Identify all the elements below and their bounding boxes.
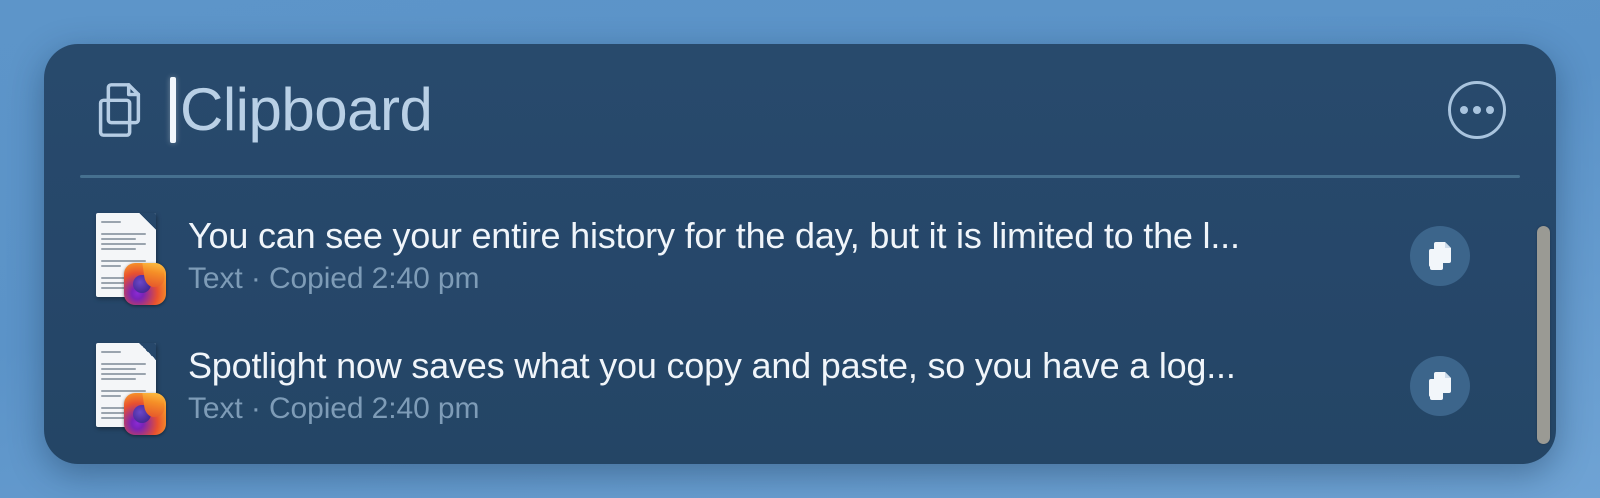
list-item-text: Spotlight now saves what you copy and pa…	[188, 345, 1390, 426]
list-item[interactable]: You can see your entire history for the …	[44, 191, 1556, 321]
list-item-text: You can see your entire history for the …	[188, 215, 1390, 296]
vertical-scrollbar[interactable]	[1537, 184, 1550, 442]
clipboard-panel: Clipboard	[44, 44, 1556, 464]
copy-icon[interactable]	[1410, 356, 1470, 416]
scrollbar-thumb[interactable]	[1537, 226, 1550, 444]
list-item-title: You can see your entire history for the …	[188, 215, 1390, 257]
firefox-icon	[124, 393, 166, 435]
firefox-icon	[124, 263, 166, 305]
list-item[interactable]: Spotlight now saves what you copy and pa…	[44, 321, 1556, 451]
panel-header: Clipboard	[44, 44, 1556, 175]
header-divider	[80, 175, 1520, 178]
list-item-subtitle: Text · Copied 2:40 pm	[188, 261, 1390, 297]
copy-icon[interactable]	[1410, 226, 1470, 286]
more-dot-3	[1486, 106, 1494, 114]
list-item-title: Spotlight now saves what you copy and pa…	[188, 345, 1390, 387]
text-document-thumbnail	[90, 343, 162, 429]
clipboard-documents-icon	[88, 79, 150, 141]
list-item-subtitle: Text · Copied 2:40 pm	[188, 391, 1390, 427]
more-options-circle-icon[interactable]	[1448, 81, 1506, 139]
clipboard-history-list: You can see your entire history for the …	[44, 182, 1556, 464]
more-dot-2	[1473, 106, 1481, 114]
text-document-thumbnail	[90, 213, 162, 299]
search-input[interactable]: Clipboard	[180, 80, 1448, 140]
more-dot-1	[1460, 106, 1468, 114]
text-cursor	[170, 77, 176, 143]
